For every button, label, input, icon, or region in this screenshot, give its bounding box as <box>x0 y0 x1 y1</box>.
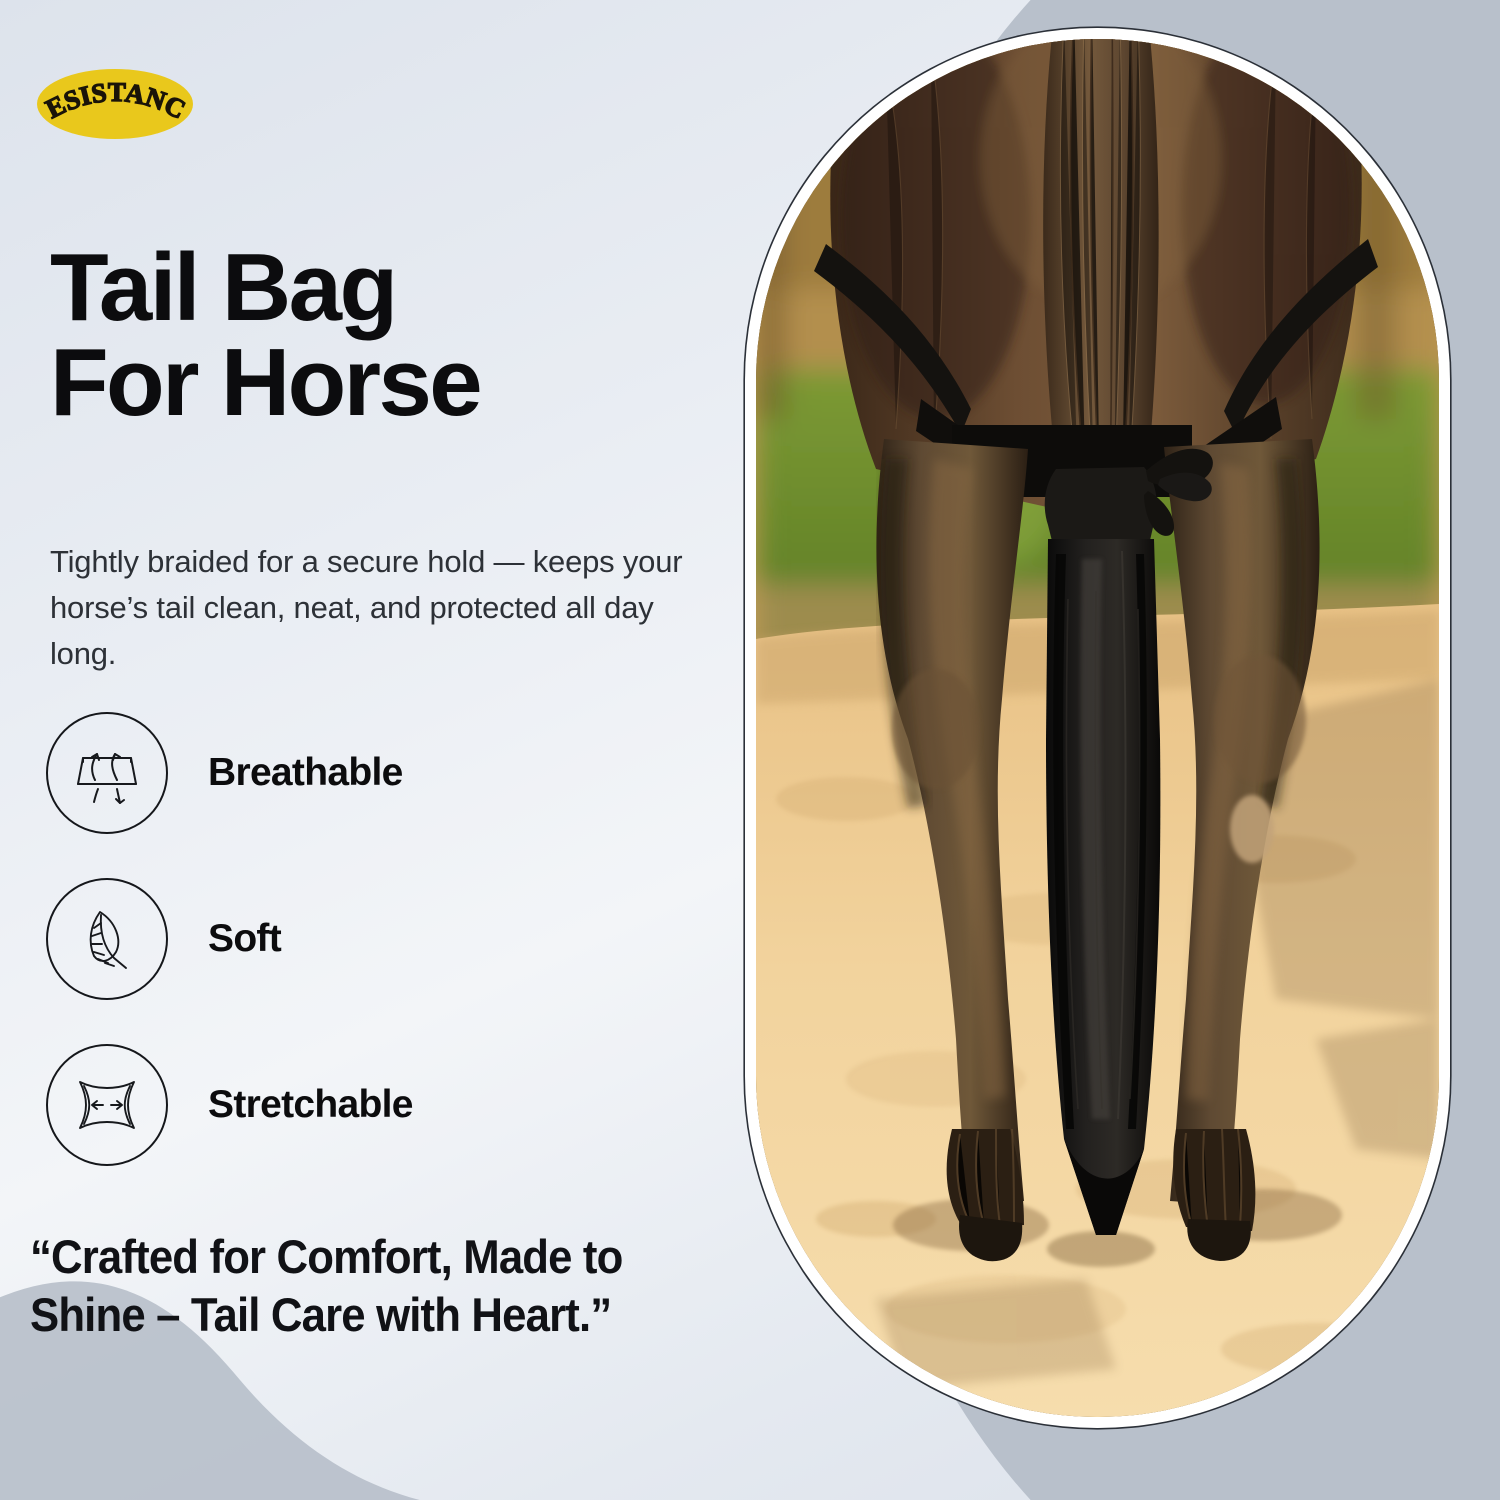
feather-icon <box>46 878 168 1000</box>
stretch-fabric-icon <box>46 1044 168 1166</box>
product-photo-frame <box>745 28 1450 1428</box>
feature-label: Stretchable <box>208 1083 413 1127</box>
product-photo <box>756 39 1439 1417</box>
headline-line-1: Tail Bag <box>50 240 690 335</box>
tagline-quote: “Crafted for Comfort, Made to Shine – Ta… <box>30 1228 700 1345</box>
feature-item-breathable: Breathable <box>46 712 666 834</box>
product-description: Tightly braided for a secure hold — keep… <box>50 539 690 677</box>
poster-canvas: RESISTANCE Tail Bag For Horse Tightly br… <box>0 0 1500 1500</box>
brand-logo: RESISTANCE <box>36 68 194 140</box>
feature-item-stretchable: Stretchable <box>46 1044 666 1166</box>
headline-line-2: For Horse <box>50 335 690 430</box>
breathable-airflow-icon <box>46 712 168 834</box>
quote-line-1: “Crafted for Comfort, Made to <box>30 1228 700 1286</box>
page-title: Tail Bag For Horse <box>50 240 690 430</box>
feature-label: Soft <box>208 917 281 961</box>
feature-item-soft: Soft <box>46 878 666 1000</box>
feature-label: Breathable <box>208 751 403 795</box>
quote-line-2: Shine – Tail Care with Heart.” <box>30 1286 700 1344</box>
feature-list: Breathable Soft <box>46 712 666 1166</box>
